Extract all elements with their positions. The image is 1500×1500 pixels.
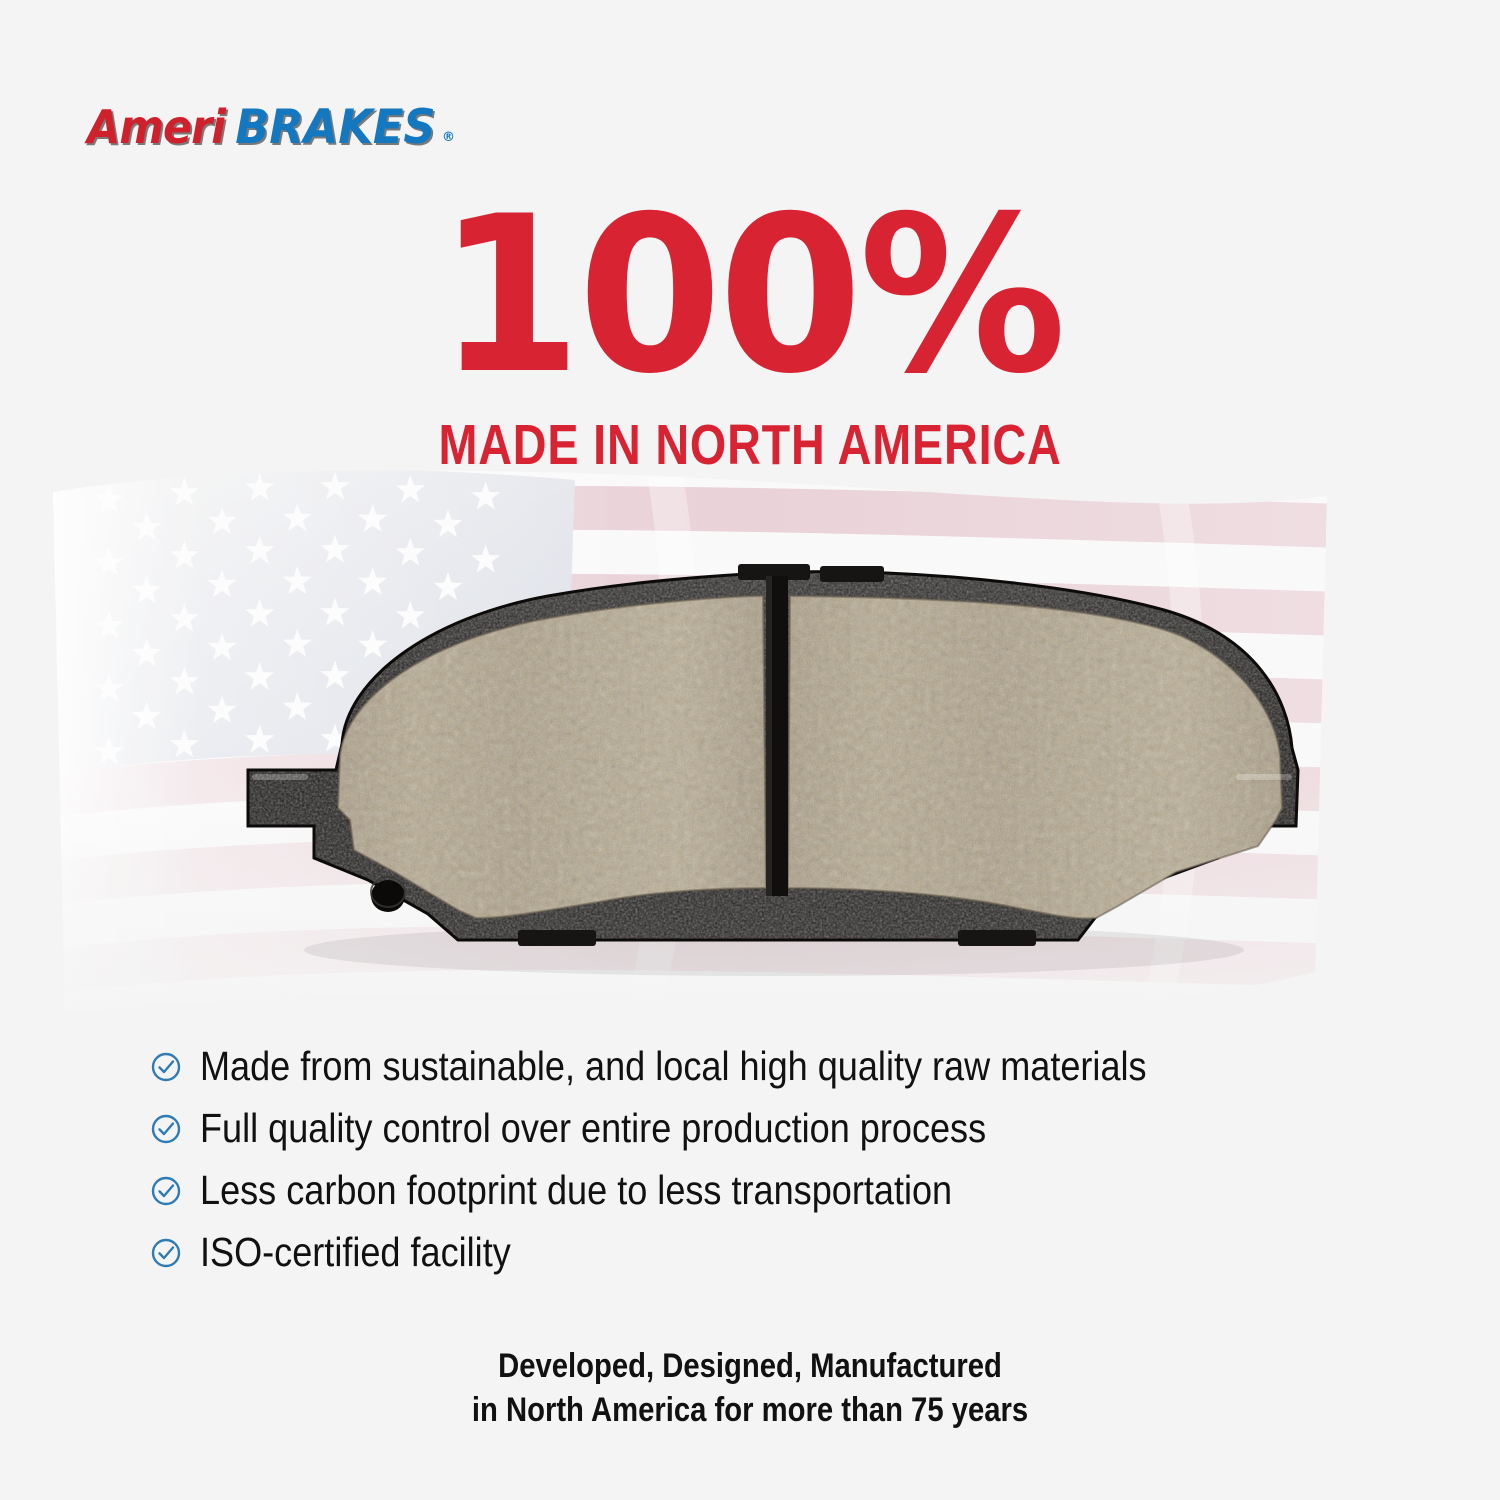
feature-item-1: Made from sustainable, and local high qu… (150, 1035, 1370, 1097)
check-circle-icon (150, 1051, 182, 1083)
feature-list: Made from sustainable, and local high qu… (150, 1035, 1370, 1283)
brand-logo[interactable]: Ameri BRAKES ® (82, 100, 454, 155)
feature-label: Less carbon footprint due to less transp… (200, 1168, 952, 1212)
registered-trademark-icon: ® (442, 130, 454, 145)
brand-logo-ameri: Ameri (87, 100, 225, 154)
feature-label: ISO-certified facility (200, 1230, 511, 1274)
feature-item-2: Full quality control over entire product… (150, 1097, 1370, 1159)
headline-subtitle: MADE IN NORTH AMERICA (135, 416, 1365, 474)
feature-label: Made from sustainable, and local high qu… (200, 1044, 1147, 1088)
feature-label: Full quality control over entire product… (200, 1106, 986, 1150)
brand-logo-brakes: BRAKES (235, 100, 435, 155)
footer-block: Developed, Designed, Manufactured in Nor… (0, 1344, 1500, 1432)
footer-line-1: Developed, Designed, Manufactured (105, 1344, 1395, 1388)
footer-line-2: in North America for more than 75 years (105, 1388, 1395, 1432)
brake-pad-product-image (218, 558, 1318, 983)
check-circle-icon (150, 1237, 182, 1269)
check-circle-icon (150, 1175, 182, 1207)
headline-block: 100% MADE IN NORTH AMERICA (0, 196, 1500, 474)
feature-item-3: Less carbon footprint due to less transp… (150, 1159, 1370, 1221)
headline-percent: 100% (30, 196, 1470, 396)
check-circle-icon (150, 1113, 182, 1145)
brake-pad-friction-material (338, 596, 1282, 918)
feature-item-4: ISO-certified facility (150, 1221, 1370, 1283)
